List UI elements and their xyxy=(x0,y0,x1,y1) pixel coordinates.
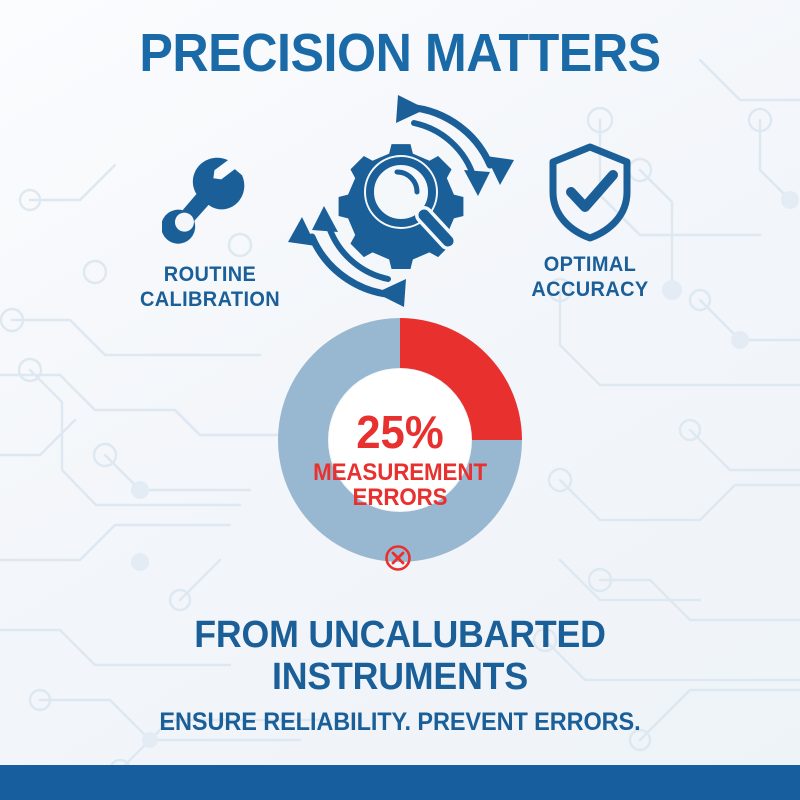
donut-hole xyxy=(329,369,471,511)
subheadline-line1: FROM UNCALUBARTED xyxy=(24,614,776,656)
wrench-icon xyxy=(162,152,258,252)
footer-bar xyxy=(0,765,800,800)
donut-chart xyxy=(278,318,522,562)
subheadline-line2: INSTRUMENTS xyxy=(24,656,776,698)
shield-check-icon-wrap xyxy=(472,140,708,244)
tagline: ENSURE RELIABILITY. PREVENT ERRORS. xyxy=(24,708,776,736)
subheadline: FROM UNCALUBARTED INSTRUMENTS xyxy=(24,614,776,698)
feature-label-line1: OPTIMAL xyxy=(478,252,702,277)
feature-optimal-accuracy: OPTIMAL ACCURACY xyxy=(472,140,708,302)
feature-optimal-accuracy-label: OPTIMAL ACCURACY xyxy=(478,252,702,302)
x-circle-icon xyxy=(384,544,412,572)
infographic-canvas: PRECISION MATTERS ROUTINE CALIBRATION xyxy=(0,0,800,800)
shield-check-icon xyxy=(543,140,637,244)
page-title: PRECISION MATTERS xyxy=(28,24,772,82)
feature-label-line2: ACCURACY xyxy=(478,277,702,302)
